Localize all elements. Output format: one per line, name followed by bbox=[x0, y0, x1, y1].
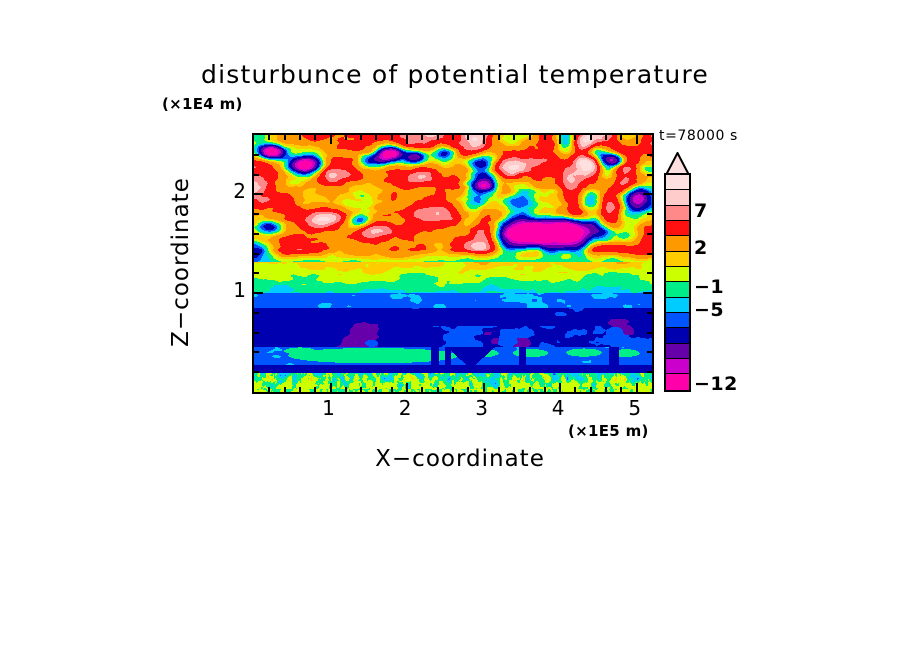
x-axis-tick-bottom bbox=[437, 387, 439, 394]
x-axis-tick-top bbox=[636, 133, 638, 144]
x-axis-tick-top bbox=[345, 133, 347, 140]
y-axis-tick-left bbox=[252, 233, 259, 235]
x-axis-tick-bottom bbox=[636, 383, 638, 394]
x-axis-tick-label: 4 bbox=[538, 396, 578, 420]
x-axis-tick-bottom bbox=[559, 383, 561, 394]
y-axis-tick-right bbox=[647, 154, 654, 156]
y-axis-tick-label: 2 bbox=[206, 179, 246, 203]
x-axis-tick-top bbox=[452, 133, 454, 140]
x-axis-tick-top bbox=[620, 133, 622, 140]
x-axis-tick-bottom bbox=[605, 387, 607, 394]
colorbar[interactable] bbox=[664, 173, 691, 392]
x-axis-tick-bottom bbox=[498, 387, 500, 394]
colorbar-band bbox=[666, 344, 689, 359]
x-axis-tick-top bbox=[605, 133, 607, 140]
x-axis-tick-bottom bbox=[330, 383, 332, 394]
y-axis-tick-left bbox=[252, 312, 259, 314]
y-axis-tick-right bbox=[643, 292, 654, 294]
x-axis-tick-top bbox=[483, 133, 485, 144]
y-axis-tick-left bbox=[252, 213, 259, 215]
x-axis-tick-top bbox=[437, 133, 439, 140]
colorbar-tick-label: −12 bbox=[694, 373, 738, 395]
x-axis-tick-top bbox=[375, 133, 377, 140]
x-axis-tick-top bbox=[360, 133, 362, 140]
timestamp-label: t=78000 s bbox=[659, 128, 738, 144]
x-axis-tick-top bbox=[330, 133, 332, 144]
x-axis-tick-top bbox=[268, 133, 270, 140]
y-axis-tick-right bbox=[647, 253, 654, 255]
colorbar-band bbox=[666, 252, 689, 267]
z-axis-unit-label: (×1E4 m) bbox=[162, 95, 243, 113]
colorbar-band bbox=[666, 282, 689, 297]
y-axis-tick-label: 1 bbox=[206, 278, 246, 302]
x-axis-tick-bottom bbox=[452, 387, 454, 394]
y-axis-tick-left bbox=[252, 154, 259, 156]
x-axis-tick-label: 1 bbox=[309, 396, 349, 420]
x-axis-tick-top bbox=[559, 133, 561, 144]
y-axis-tick-right bbox=[647, 351, 654, 353]
colorbar-band bbox=[666, 236, 689, 251]
page-title: disturbunce of potential temperature bbox=[170, 60, 740, 89]
figure-canvas: disturbunce of potential temperature (×1… bbox=[0, 0, 904, 654]
x-axis-tick-bottom bbox=[467, 387, 469, 394]
x-axis-tick-bottom bbox=[391, 387, 393, 394]
colorbar-band bbox=[666, 359, 689, 374]
x-axis-tick-top bbox=[498, 133, 500, 140]
colorbar-band bbox=[666, 328, 689, 343]
y-axis-tick-right bbox=[647, 213, 654, 215]
colorbar-band bbox=[666, 175, 689, 190]
y-axis-tick-right bbox=[647, 312, 654, 314]
x-axis-tick-bottom bbox=[513, 387, 515, 394]
y-axis-tick-right bbox=[647, 371, 654, 373]
x-axis-title: X−coordinate bbox=[300, 446, 620, 472]
x-axis-tick-bottom bbox=[299, 387, 301, 394]
colorbar-tick-label: 7 bbox=[694, 200, 708, 222]
y-axis-tick-left bbox=[252, 193, 263, 195]
x-axis-tick-top bbox=[284, 133, 286, 140]
y-axis-tick-right bbox=[647, 332, 654, 334]
x-axis-tick-top bbox=[314, 133, 316, 140]
contour-field bbox=[254, 135, 652, 392]
x-axis-tick-bottom bbox=[529, 387, 531, 394]
contour-plot-area[interactable] bbox=[252, 133, 654, 394]
x-axis-tick-bottom bbox=[544, 387, 546, 394]
x-axis-tick-top bbox=[391, 133, 393, 140]
x-axis-tick-bottom bbox=[406, 383, 408, 394]
y-axis-tick-right bbox=[647, 272, 654, 274]
y-axis-tick-left bbox=[252, 253, 259, 255]
y-axis-tick-left bbox=[252, 272, 259, 274]
x-axis-tick-top bbox=[299, 133, 301, 140]
colorbar-band bbox=[666, 221, 689, 236]
y-axis-tick-left bbox=[252, 332, 259, 334]
colorbar-band bbox=[666, 298, 689, 313]
y-axis-tick-right bbox=[643, 193, 654, 195]
colorbar-band bbox=[666, 374, 689, 389]
x-axis-tick-top bbox=[467, 133, 469, 140]
x-axis-tick-bottom bbox=[421, 387, 423, 394]
y-axis-tick-right bbox=[647, 174, 654, 176]
x-axis-unit-label: (×1E5 m) bbox=[568, 422, 649, 440]
x-axis-tick-label: 5 bbox=[615, 396, 655, 420]
x-axis-tick-top bbox=[513, 133, 515, 140]
x-axis-tick-top bbox=[590, 133, 592, 140]
x-axis-tick-top bbox=[406, 133, 408, 144]
y-axis-tick-left bbox=[252, 174, 259, 176]
x-axis-tick-bottom bbox=[590, 387, 592, 394]
x-axis-tick-bottom bbox=[483, 383, 485, 394]
y-axis-title: Z−coordinate bbox=[168, 142, 194, 382]
x-axis-tick-bottom bbox=[375, 387, 377, 394]
colorbar-band bbox=[666, 267, 689, 282]
x-axis-tick-bottom bbox=[574, 387, 576, 394]
x-axis-tick-bottom bbox=[345, 387, 347, 394]
y-axis-tick-left bbox=[252, 292, 263, 294]
y-axis-tick-right bbox=[647, 233, 654, 235]
x-axis-tick-bottom bbox=[620, 387, 622, 394]
x-axis-tick-top bbox=[529, 133, 531, 140]
x-axis-tick-bottom bbox=[314, 387, 316, 394]
x-axis-tick-top bbox=[574, 133, 576, 140]
x-axis-tick-bottom bbox=[360, 387, 362, 394]
colorbar-band bbox=[666, 190, 689, 205]
x-axis-tick-bottom bbox=[284, 387, 286, 394]
x-axis-tick-top bbox=[544, 133, 546, 140]
x-axis-tick-bottom bbox=[268, 387, 270, 394]
colorbar-tick-label: −5 bbox=[694, 299, 724, 321]
colorbar-band bbox=[666, 313, 689, 328]
y-axis-tick-left bbox=[252, 371, 259, 373]
colorbar-tick-label: −1 bbox=[694, 276, 724, 298]
x-axis-tick-label: 3 bbox=[462, 396, 502, 420]
x-axis-tick-top bbox=[421, 133, 423, 140]
x-axis-tick-label: 2 bbox=[385, 396, 425, 420]
colorbar-tick-label: 2 bbox=[694, 237, 708, 259]
y-axis-tick-left bbox=[252, 351, 259, 353]
colorbar-band bbox=[666, 206, 689, 221]
